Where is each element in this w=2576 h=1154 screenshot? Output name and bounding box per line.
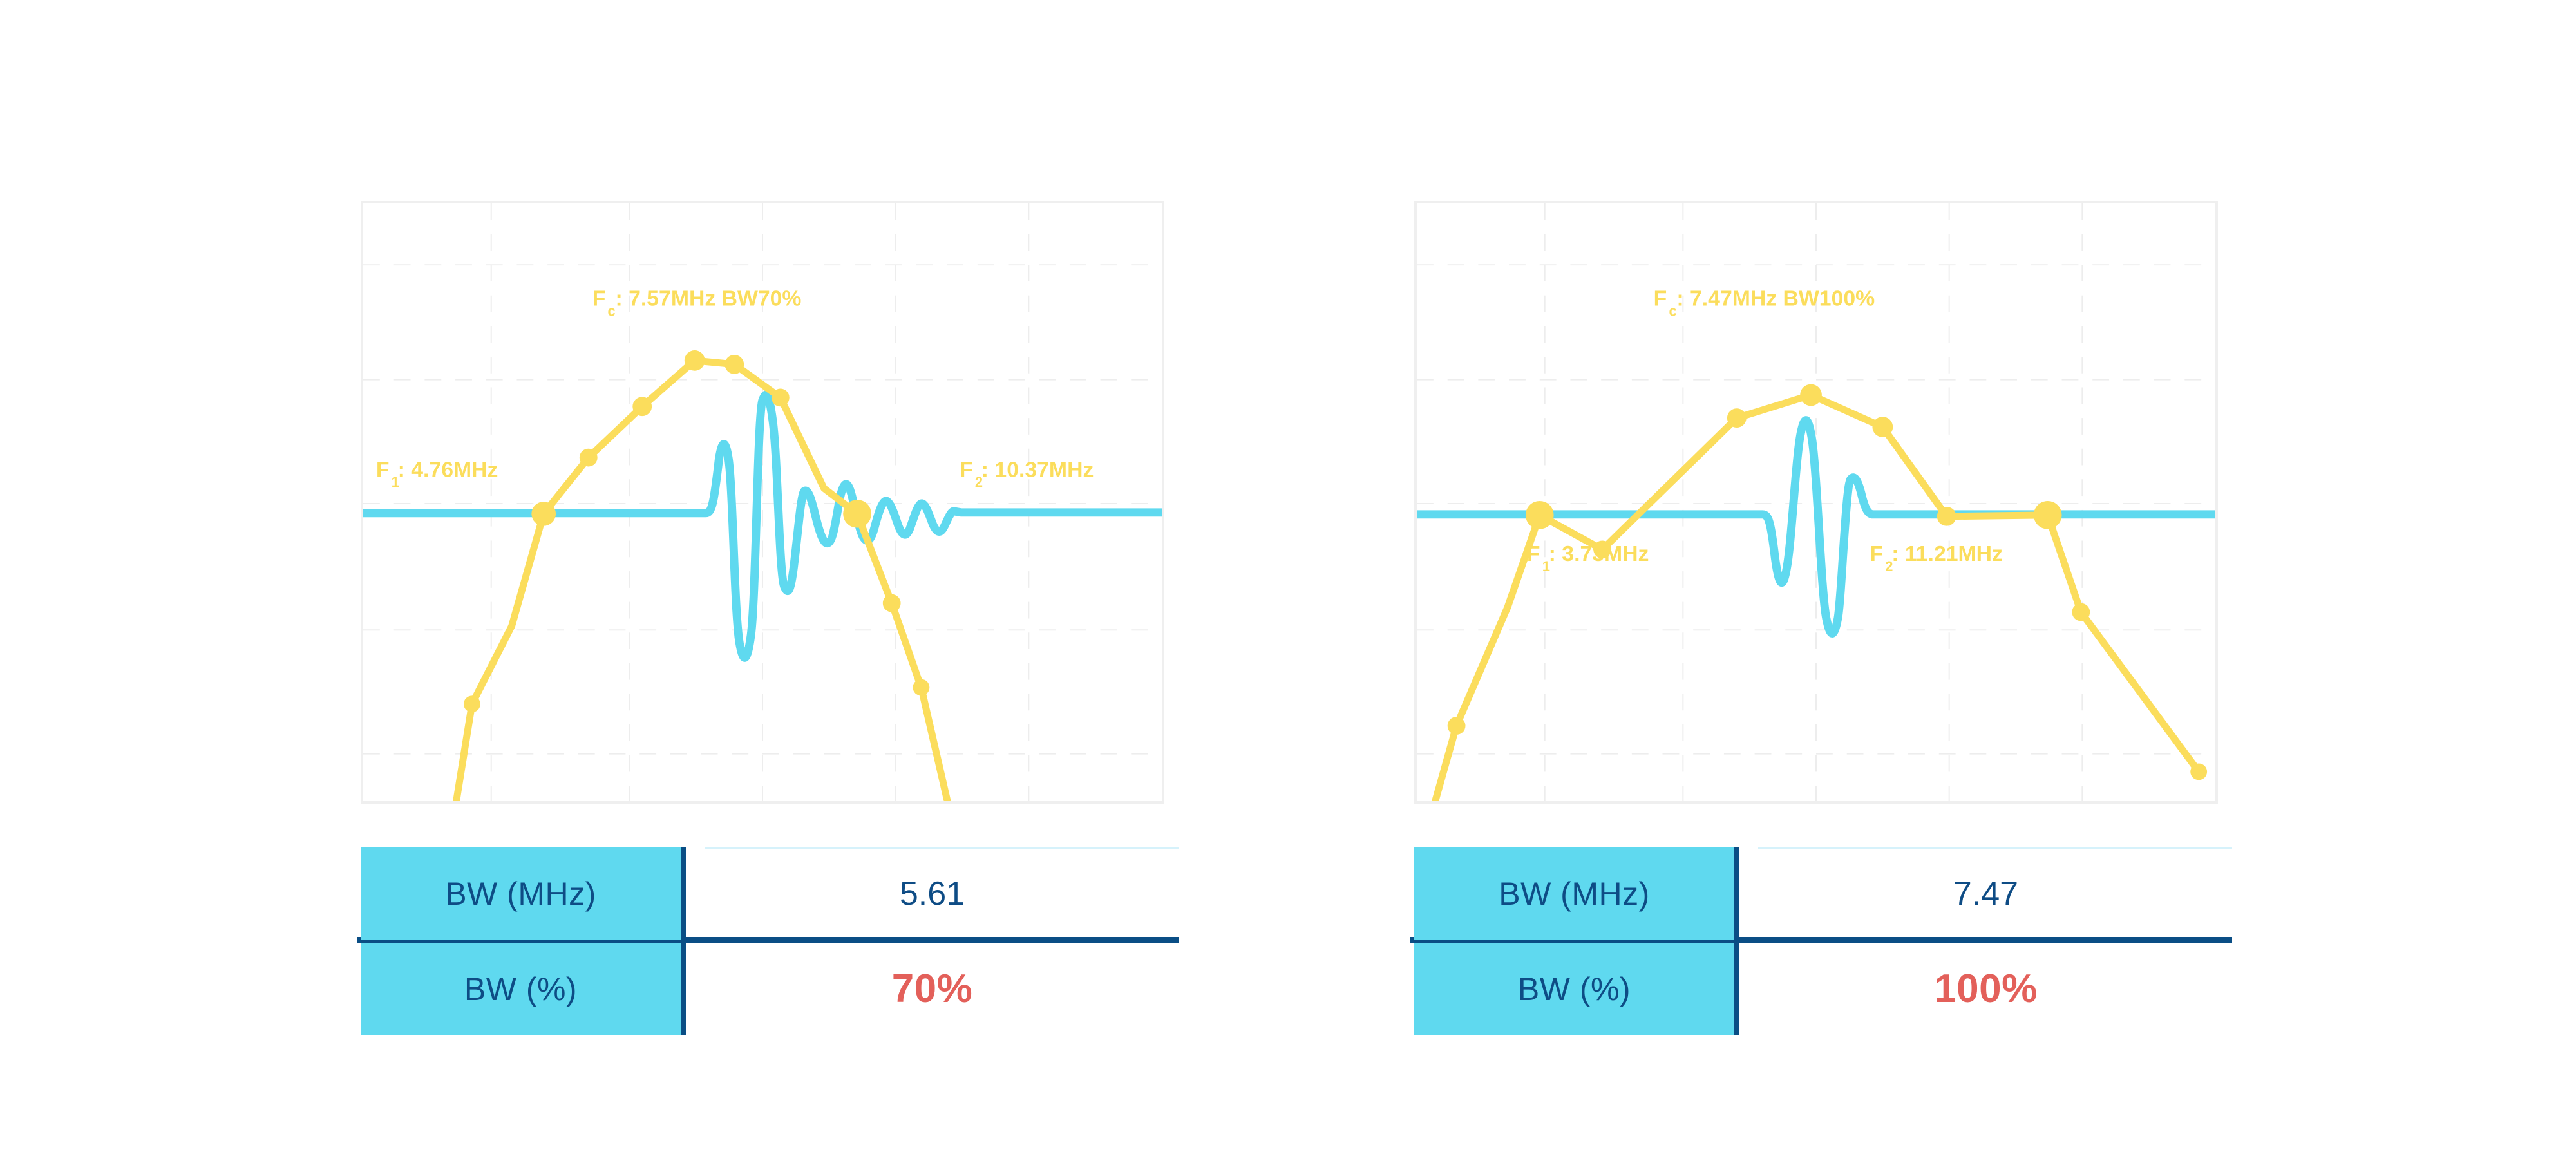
- bw-mhz-value-text: 5.61: [900, 875, 965, 913]
- spectrum-chart-bw100: F c : 7.47MHz BW100% F 1 : 3.73MHz F 2 :…: [1417, 203, 2215, 801]
- annotation-center-prefix: F: [1654, 287, 1667, 311]
- bw-pct-label: BW (%): [1414, 943, 1739, 1035]
- bw-mhz-value-text: 7.47: [1953, 875, 2018, 913]
- annotation-f1-prefix: F: [376, 457, 390, 482]
- spectrum-curve: [448, 361, 958, 801]
- annotation-f2-prefix: F: [960, 457, 973, 482]
- bw-pct-label-text: BW (%): [1518, 970, 1631, 1008]
- table-row: BW (%) 100%: [1414, 943, 2232, 1035]
- bw-mhz-value: 7.47: [1739, 847, 2232, 940]
- annotation-f2-text: : 10.37MHz: [981, 457, 1094, 482]
- screenshot-root: F c : 7.57MHz BW70% F 1 : 4.76MHz F 2 : …: [0, 0, 2576, 1154]
- annotation-f2-text: : 11.21MHz: [1891, 542, 2003, 566]
- annotation-center-text: : 7.47MHz BW100%: [1676, 287, 1875, 311]
- annotation-f1-prefix: F: [1527, 542, 1540, 566]
- spectrum-chart-bw70: F c : 7.57MHz BW70% F 1 : 4.76MHz F 2 : …: [363, 203, 1162, 801]
- chart-frame-bw70: F c : 7.57MHz BW70% F 1 : 4.76MHz F 2 : …: [361, 201, 1164, 804]
- annotation-f2: F 2 : 10.37MHz: [960, 457, 1094, 490]
- spectrum-data-points: [1448, 384, 2207, 780]
- annotation-center-subscript: c: [608, 303, 616, 319]
- bw-pct-label: BW (%): [361, 943, 686, 1035]
- annotation-center-frequency: F c : 7.47MHz BW100%: [1654, 287, 1875, 319]
- annotation-f1-text: : 4.76MHz: [398, 457, 498, 482]
- bw-pct-value: 70%: [686, 943, 1179, 1035]
- annotation-center-frequency: F c : 7.57MHz BW70%: [592, 287, 802, 319]
- annotation-center-text: : 7.57MHz BW70%: [615, 287, 801, 311]
- bw-mhz-label: BW (MHz): [361, 847, 686, 940]
- annotation-center-prefix: F: [592, 287, 606, 311]
- chart-frame-bw100: F c : 7.47MHz BW100% F 1 : 3.73MHz F 2 :…: [1414, 201, 2218, 804]
- bw-mhz-value: 5.61: [686, 847, 1179, 940]
- panel-bw100: F c : 7.47MHz BW100% F 1 : 3.73MHz F 2 :…: [1414, 201, 2218, 804]
- bw-pct-value-text: 100%: [1934, 966, 2038, 1012]
- bw-pct-label-text: BW (%): [464, 970, 577, 1008]
- bw-mhz-label-text: BW (MHz): [1499, 875, 1650, 913]
- panel-bw70: F c : 7.57MHz BW70% F 1 : 4.76MHz F 2 : …: [361, 201, 1164, 804]
- bw-mhz-label: BW (MHz): [1414, 847, 1739, 940]
- table-row: BW (%) 70%: [361, 943, 1179, 1035]
- table-row: BW (MHz) 5.61: [361, 847, 1179, 940]
- annotation-f2-prefix: F: [1870, 542, 1883, 566]
- table-row: BW (MHz) 7.47: [1414, 847, 2232, 940]
- bw-summary-table-bw100: BW (MHz) 7.47 BW (%) 100%: [1414, 847, 2232, 1036]
- bw-pct-value: 100%: [1739, 943, 2232, 1035]
- bw-summary-table-bw70: BW (MHz) 5.61 BW (%) 70%: [361, 847, 1179, 1036]
- annotation-center-subscript: c: [1669, 303, 1676, 319]
- annotation-f2: F 2 : 11.21MHz: [1870, 542, 2002, 574]
- bw-pct-value-text: 70%: [892, 966, 973, 1012]
- annotation-f1: F 1 : 4.76MHz: [376, 457, 498, 490]
- bw-mhz-label-text: BW (MHz): [445, 875, 596, 913]
- annotation-f1-text: : 3.73MHz: [1549, 542, 1649, 566]
